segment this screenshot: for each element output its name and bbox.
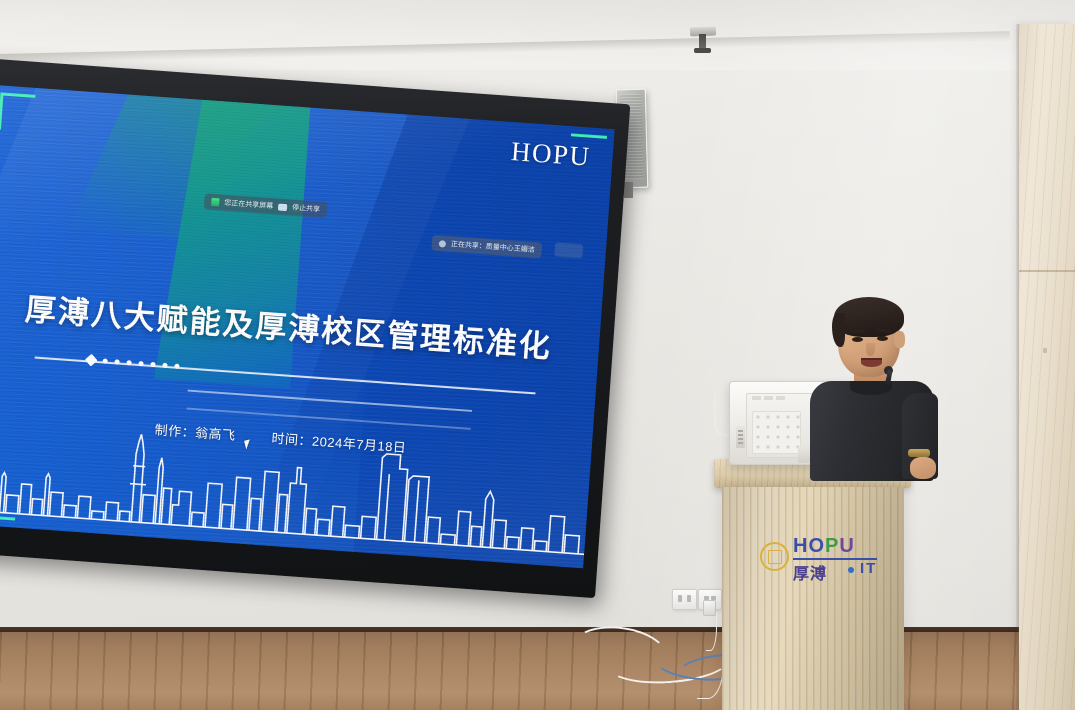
wall-outlet-1[interactable]	[672, 589, 697, 610]
monitor-pattern-left	[752, 411, 801, 454]
share-stop-text: 停止共享	[292, 203, 321, 215]
presenter-ear	[894, 331, 905, 348]
share-presenter-text: 正在共享：质量中心王媚洁	[451, 239, 536, 255]
wall-display[interactable]: HOPU 厚溥八大赋能及厚溥校区管理标准化 制作：翁高飞 时间：2024年7月1…	[0, 58, 640, 624]
presenter-watch	[908, 449, 930, 457]
podium-logo: HOPU 厚溥 IT	[760, 533, 882, 583]
presenter-eye-right	[877, 336, 888, 341]
presenter-eye-left	[852, 337, 863, 342]
wood-door-panel	[1019, 24, 1075, 710]
panel-seam	[1019, 270, 1075, 272]
slide-corner-top-left	[0, 92, 35, 131]
podium-shading	[722, 487, 904, 710]
share-dot-icon	[439, 240, 446, 247]
presenter-hand	[910, 457, 936, 479]
panel-knob	[1043, 348, 1047, 353]
divider-dots	[86, 355, 179, 371]
slide-brand-logo: HOPU	[510, 136, 592, 173]
wood-floor	[0, 632, 1075, 710]
display-screen[interactable]: HOPU 厚溥八大赋能及厚溥校区管理标准化 制作：翁高飞 时间：2024年7月1…	[0, 85, 615, 568]
podium-logo-cn: 厚溥	[793, 560, 827, 584]
camera-icon	[278, 203, 287, 211]
presentation-slide: HOPU 厚溥八大赋能及厚溥校区管理标准化 制作：翁高飞 时间：2024年7月1…	[0, 85, 615, 568]
share-status-text: 您正在共享屏幕	[224, 198, 274, 211]
podium-logo-hopu: HOPU	[793, 535, 855, 558]
share-bar-controls[interactable]	[554, 242, 583, 258]
presenter	[806, 297, 938, 479]
podium-logo-it: IT	[860, 560, 877, 577]
monitor-vents-left	[752, 396, 785, 400]
presenter-nose	[866, 343, 875, 356]
panel-edge	[1016, 24, 1019, 710]
presenter-hair-side	[832, 313, 845, 347]
ceiling-bracket-foot	[694, 48, 711, 53]
podium-logo-dot	[848, 567, 854, 573]
seal-icon	[760, 542, 789, 571]
presenter-mouth	[861, 358, 882, 367]
presentation-room-scene: HOPU 厚溥八大赋能及厚溥校区管理标准化 制作：翁高飞 时间：2024年7月1…	[0, 0, 1075, 710]
signal-icon	[211, 198, 220, 207]
monitor-ports	[736, 426, 745, 448]
